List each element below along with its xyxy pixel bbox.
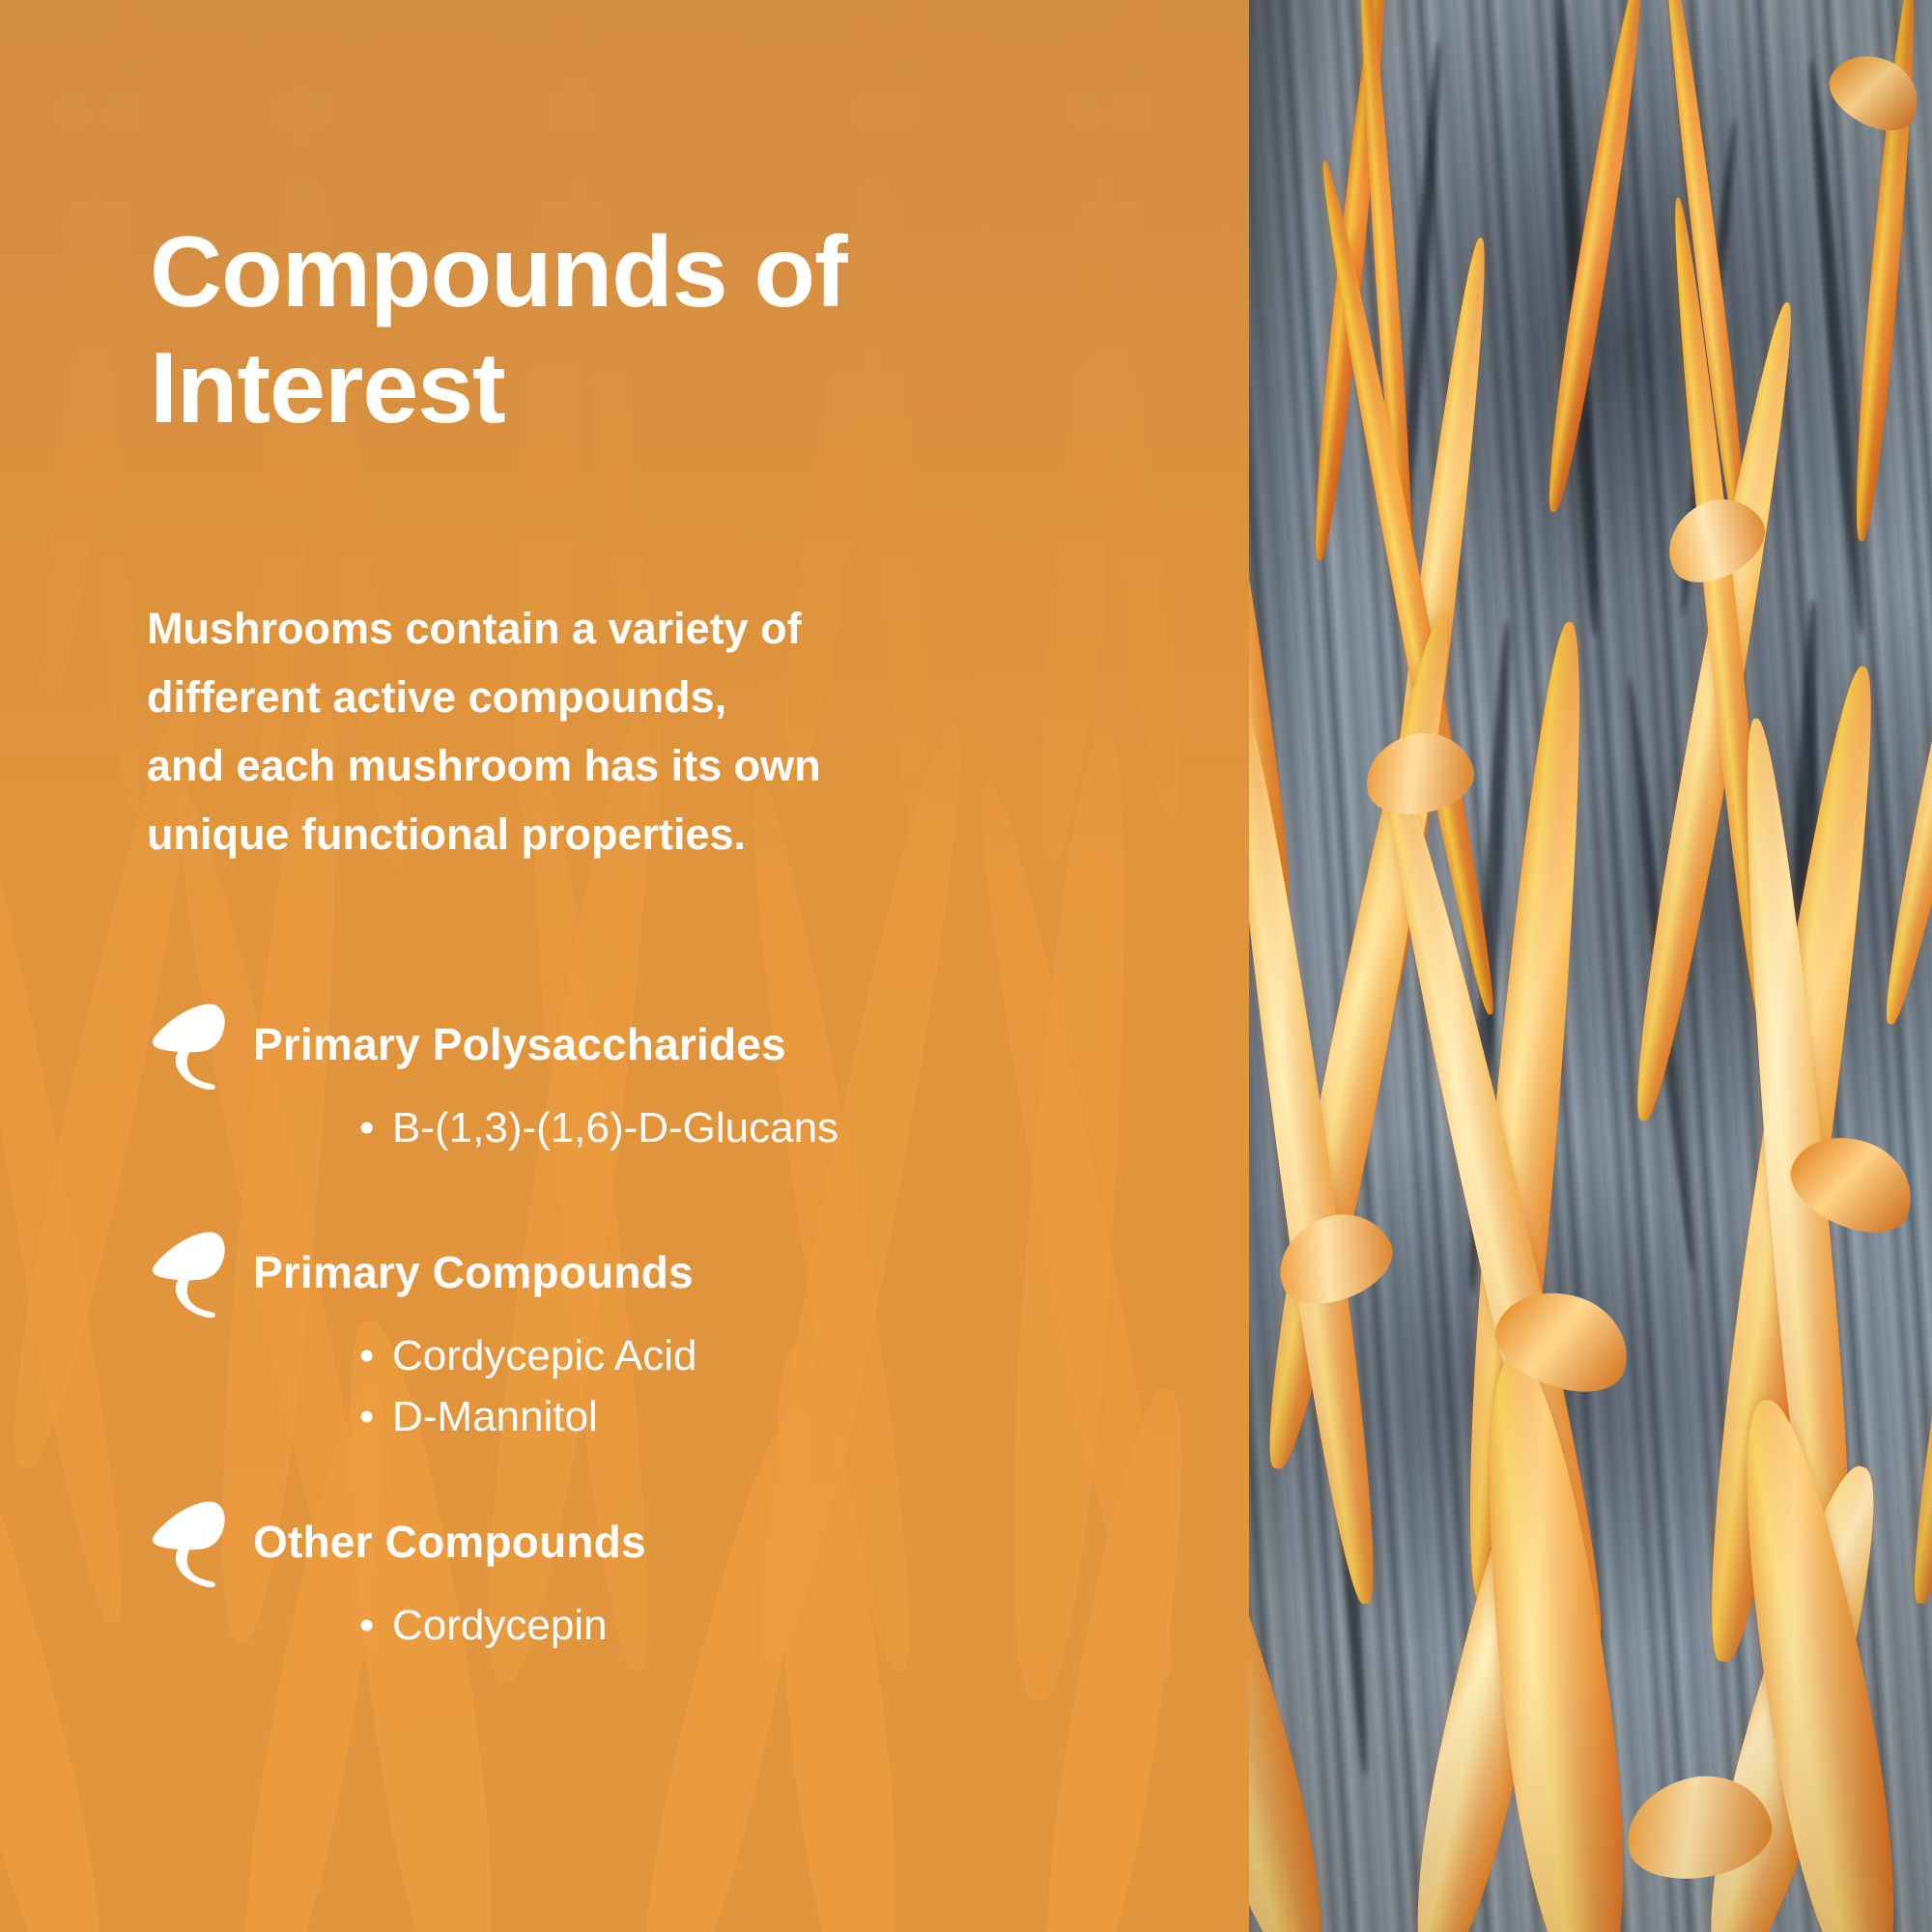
bullet-marker: • <box>359 1387 392 1447</box>
bullet-marker: • <box>359 1098 392 1158</box>
list-item: • Cordycepin <box>135 1596 1198 1656</box>
bullet-label: B-(1,3)-(1,6)-D-Glucans <box>392 1098 1198 1158</box>
left-panel-content: Compounds of Interest Mushrooms contain … <box>0 0 1249 1932</box>
infographic-canvas: Compounds of Interest Mushrooms contain … <box>0 0 1932 1932</box>
section-primary-polysaccharides: Primary Polysaccharides • B-(1,3)-(1,6)-… <box>135 1000 1198 1158</box>
section-bullet-list: • B-(1,3)-(1,6)-D-Glucans <box>135 1098 1198 1158</box>
list-item: • B-(1,3)-(1,6)-D-Glucans <box>135 1098 1198 1158</box>
bullet-marker: • <box>359 1596 392 1656</box>
mushroom-icon <box>143 998 238 1091</box>
bullet-label: D-Mannitol <box>392 1387 1198 1447</box>
list-item: • Cordycepic Acid <box>135 1326 1198 1386</box>
cordyceps-photo <box>1249 0 1932 1932</box>
section-header: Primary Compounds <box>135 1228 1198 1317</box>
bullet-label: Cordycepin <box>392 1596 1198 1656</box>
section-primary-compounds: Primary Compounds • Cordycepic Acid • D-… <box>135 1228 1198 1447</box>
left-content-panel: Compounds of Interest Mushrooms contain … <box>0 0 1249 1932</box>
intro-paragraph: Mushrooms contain a variety of different… <box>147 594 1142 868</box>
bullet-label: Cordycepic Acid <box>392 1326 1198 1386</box>
section-title: Other Compounds <box>253 1520 646 1564</box>
section-header: Primary Polysaccharides <box>135 1000 1198 1089</box>
bullet-marker: • <box>359 1326 392 1386</box>
list-item: • D-Mannitol <box>135 1387 1198 1447</box>
section-header: Other Compounds <box>135 1497 1198 1586</box>
mushroom-icon <box>143 1495 238 1588</box>
section-title: Primary Polysaccharides <box>253 1022 786 1066</box>
section-other-compounds: Other Compounds • Cordycepin <box>135 1497 1198 1656</box>
section-bullet-list: • Cordycepin <box>135 1596 1198 1656</box>
compound-sections: Primary Polysaccharides • B-(1,3)-(1,6)-… <box>135 1000 1198 1691</box>
section-title: Primary Compounds <box>253 1250 694 1294</box>
section-bullet-list: • Cordycepic Acid • D-Mannitol <box>135 1326 1198 1447</box>
page-title: Compounds of Interest <box>150 214 1174 447</box>
mushroom-icon <box>143 1226 238 1319</box>
